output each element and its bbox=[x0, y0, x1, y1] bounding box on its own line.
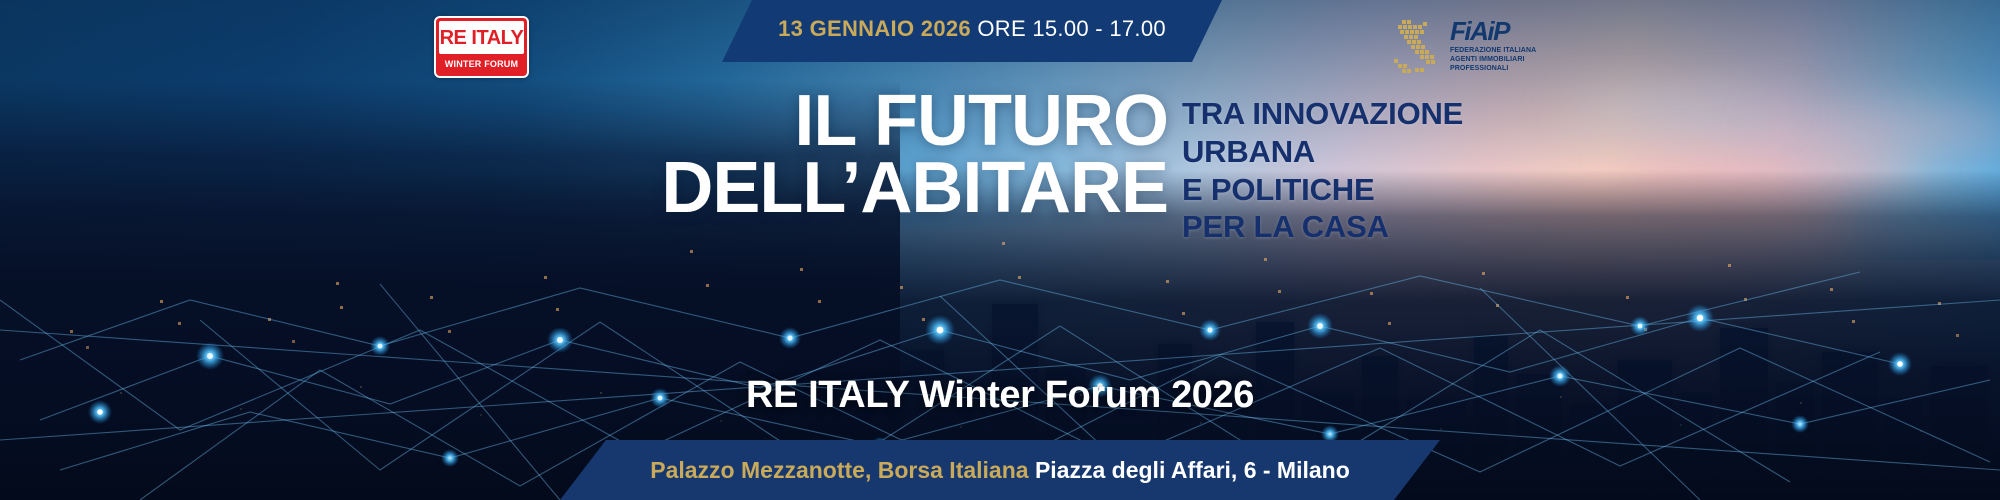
fiaip-subtitle: FEDERAZIONE ITALIANA AGENTI IMMOBILIARI … bbox=[1450, 47, 1570, 74]
subheadline-line-4: PER LA CASA bbox=[1182, 208, 1602, 246]
venue-address: Piazza degli Affari, 6 - Milano bbox=[1035, 457, 1350, 483]
main-headline: IL FUTURO DELL’ABITARE bbox=[528, 88, 1168, 222]
fiaip-logo-text: FiAiP FEDERAZIONE ITALIANA AGENTI IMMOBI… bbox=[1450, 18, 1570, 74]
subheadline-line-1: TRA INNOVAZIONE bbox=[1182, 95, 1602, 133]
headline-line-1: IL FUTURO bbox=[528, 88, 1168, 155]
fiaip-logo[interactable]: FiAiP FEDERAZIONE ITALIANA AGENTI IMMOBI… bbox=[1388, 10, 1568, 80]
re-italy-logo-name: RE ITALY bbox=[440, 28, 524, 48]
venue-name: Palazzo Mezzanotte, Borsa Italiana bbox=[650, 457, 1028, 483]
venue-bar: Palazzo Mezzanotte, Borsa Italiana Piazz… bbox=[560, 440, 1440, 500]
subheadline: TRA INNOVAZIONE URBANA E POLITICHE PER L… bbox=[1182, 95, 1602, 246]
fiaip-subtitle-line-1: FEDERAZIONE ITALIANA bbox=[1450, 47, 1570, 56]
re-italy-logo-subtitle: WINTER FORUM bbox=[445, 59, 518, 69]
re-italy-logo[interactable]: RE ITALY WINTER FORUM bbox=[434, 16, 529, 78]
event-name: RE ITALY Winter Forum 2026 bbox=[746, 374, 1254, 416]
subheadline-line-3: E POLITICHE bbox=[1182, 171, 1602, 209]
fiaip-subtitle-line-3: PROFESSIONALI bbox=[1450, 65, 1570, 74]
event-time: ORE 15.00 - 17.00 bbox=[977, 16, 1166, 41]
re-italy-logo-name-box: RE ITALY bbox=[439, 21, 524, 54]
italy-map-pixel-icon bbox=[1388, 14, 1450, 76]
re-italy-logo-subtitle-box: WINTER FORUM bbox=[439, 54, 524, 73]
venue-text: Palazzo Mezzanotte, Borsa Italiana Piazz… bbox=[650, 457, 1350, 484]
fiaip-acronym: FiAiP bbox=[1450, 18, 1570, 44]
headline-line-2: DELL’ABITARE bbox=[528, 155, 1168, 222]
date-time-text: 13 GENNAIO 2026 ORE 15.00 - 17.00 bbox=[778, 16, 1166, 42]
fiaip-subtitle-line-2: AGENTI IMMOBILIARI bbox=[1450, 56, 1570, 65]
event-date: 13 GENNAIO 2026 bbox=[778, 16, 971, 41]
event-banner: 13 GENNAIO 2026 ORE 15.00 - 17.00 RE ITA… bbox=[0, 0, 2000, 500]
subheadline-line-2: URBANA bbox=[1182, 133, 1602, 171]
date-time-ribbon: 13 GENNAIO 2026 ORE 15.00 - 17.00 bbox=[722, 0, 1222, 62]
event-name-row: RE ITALY Winter Forum 2026 bbox=[0, 374, 2000, 417]
